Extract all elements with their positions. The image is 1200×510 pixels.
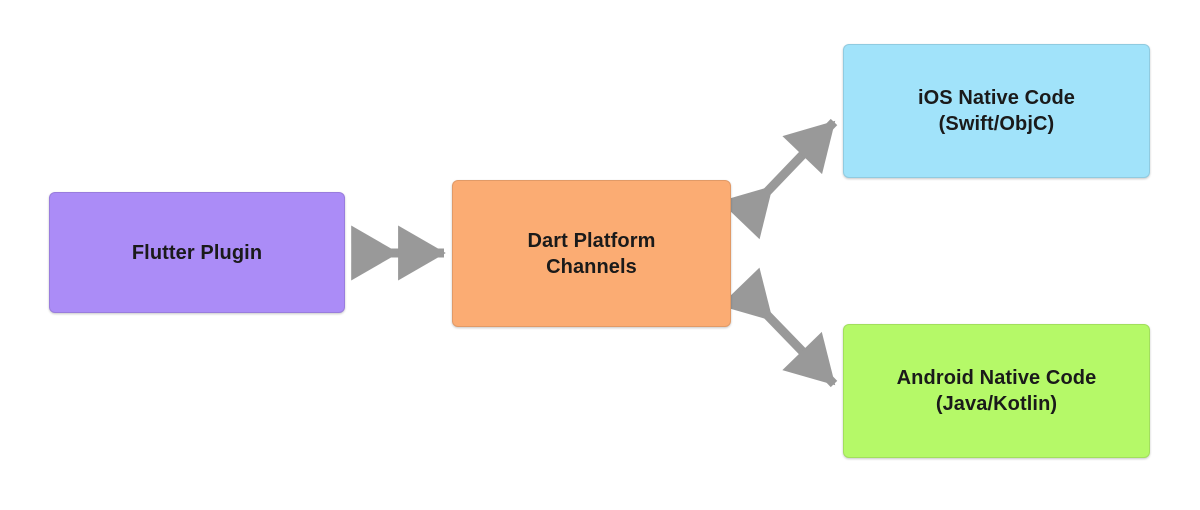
node-ios-native-code-label: iOS Native Code (Swift/ObjC) bbox=[908, 85, 1085, 137]
diagram-canvas: Flutter Plugin Dart Platform Channels iO… bbox=[0, 0, 1200, 510]
connector-channels-to-android bbox=[741, 288, 834, 384]
node-android-native-code[interactable]: Android Native Code (Java/Kotlin) bbox=[843, 324, 1150, 458]
node-dart-platform-channels[interactable]: Dart Platform Channels bbox=[452, 180, 731, 327]
connector-channels-to-ios bbox=[741, 122, 834, 219]
node-dart-platform-channels-label: Dart Platform Channels bbox=[518, 228, 666, 280]
node-flutter-plugin-label: Flutter Plugin bbox=[122, 240, 272, 266]
node-android-native-code-label: Android Native Code (Java/Kotlin) bbox=[887, 365, 1107, 417]
node-flutter-plugin[interactable]: Flutter Plugin bbox=[49, 192, 345, 313]
node-ios-native-code[interactable]: iOS Native Code (Swift/ObjC) bbox=[843, 44, 1150, 178]
